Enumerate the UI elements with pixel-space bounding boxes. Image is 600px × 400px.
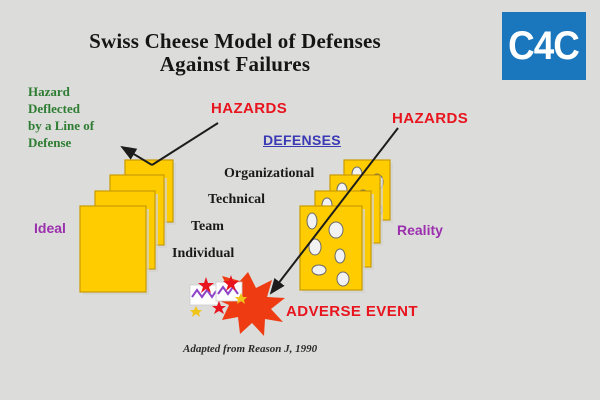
title-line-2: Against Failures	[0, 53, 470, 76]
defense-layer-team: Team	[191, 219, 224, 235]
ideal-slices-group	[80, 160, 176, 295]
defense-layer-organizational: Organizational	[224, 166, 314, 182]
reality-label: Reality	[397, 222, 443, 238]
c4c-logo: C4C	[502, 12, 586, 80]
ideal-label: Ideal	[34, 220, 66, 236]
defenses-label: DEFENSES	[263, 132, 341, 148]
diagram-canvas: Swiss Cheese Model of Defenses Against F…	[0, 0, 600, 400]
attribution-credit: Adapted from Reason J, 1990	[183, 343, 317, 355]
hazard-deflected-label: Hazard Deflected by a Line of Defense	[28, 83, 132, 151]
hazards-right-label: HAZARDS	[392, 110, 468, 127]
defense-layer-individual: Individual	[172, 246, 234, 262]
reality-slice-1	[300, 206, 365, 293]
hazard-deflected-line-1: Hazard	[28, 83, 132, 100]
ideal-slice-1	[80, 206, 149, 295]
logo-text: C4C	[509, 26, 580, 66]
page-title: Swiss Cheese Model of Defenses Against F…	[0, 30, 470, 76]
defense-layer-technical: Technical	[208, 192, 265, 208]
hazards-left-label: HAZARDS	[211, 100, 287, 117]
hazard-deflected-line-4: Defense	[28, 134, 132, 151]
title-line-1: Swiss Cheese Model of Defenses	[89, 29, 381, 53]
hazard-deflected-arrow	[122, 123, 218, 165]
hazard-deflected-line-2: Deflected	[28, 100, 132, 117]
adverse-event-label: ADVERSE EVENT	[286, 303, 418, 320]
hazard-deflected-line-3: by a Line of	[28, 117, 132, 134]
